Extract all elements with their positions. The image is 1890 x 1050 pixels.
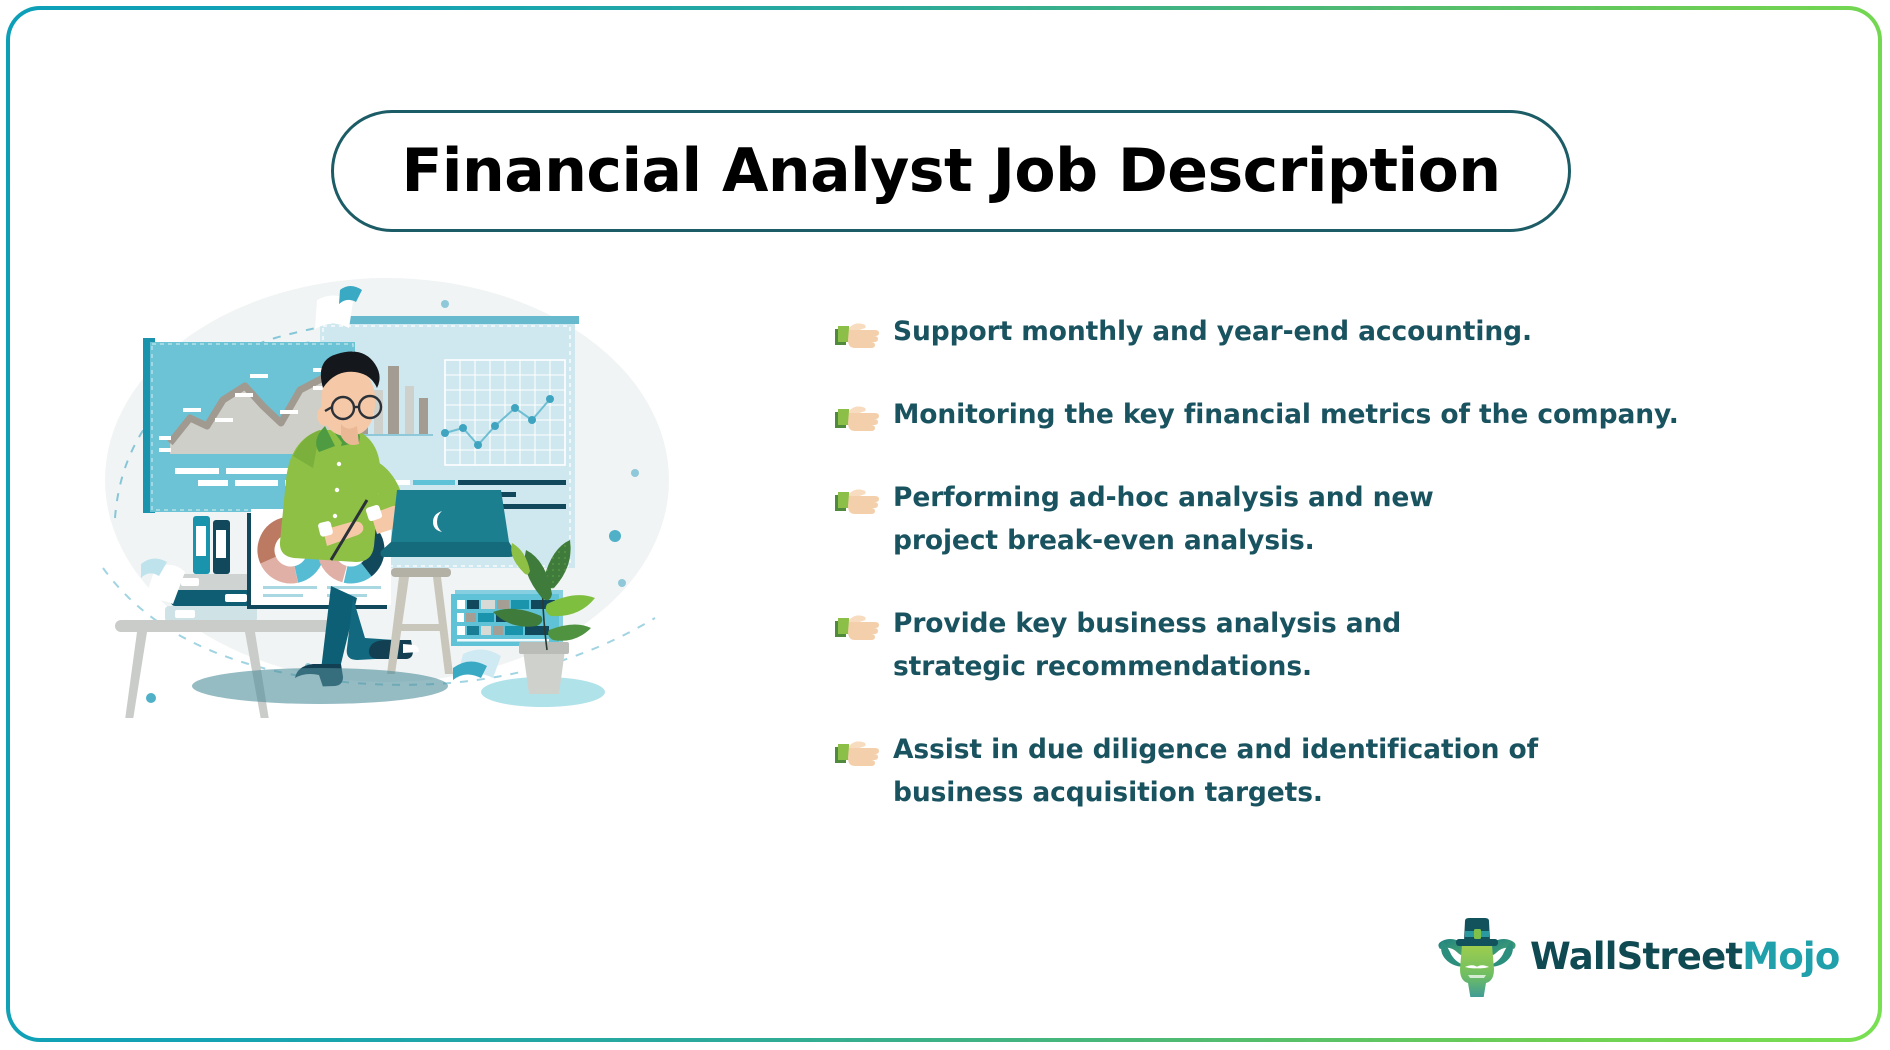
page-title: Financial Analyst Job Description	[401, 136, 1500, 206]
pointing-hand-icon	[835, 608, 879, 642]
laptop	[381, 490, 516, 557]
logo-word-accent: Mojo	[1742, 935, 1839, 978]
logo-word-primary: WallStreet	[1530, 935, 1742, 978]
pointing-hand-icon	[835, 316, 879, 350]
duties-list: Support monthly and year-end accounting.…	[835, 310, 1795, 814]
pointing-hand-icon	[835, 399, 879, 433]
pointing-hand-icon	[835, 482, 879, 516]
list-item: Provide key business analysis and strate…	[835, 602, 1795, 688]
wallstreetmojo-logo[interactable]: WallStreetMojo	[1438, 915, 1839, 997]
list-item: Monitoring the key financial metrics of …	[835, 393, 1795, 436]
title-pill: Financial Analyst Job Description	[331, 110, 1571, 232]
list-item: Support monthly and year-end accounting.	[835, 310, 1795, 353]
bull-with-top-hat-icon	[1438, 915, 1516, 997]
duty-text: Support monthly and year-end accounting.	[893, 310, 1532, 353]
duty-text: Monitoring the key financial metrics of …	[893, 393, 1679, 436]
infographic-canvas: Financial Analyst Job Description	[10, 10, 1878, 1038]
list-item: Performing ad-hoc analysis and new proje…	[835, 476, 1795, 562]
duty-text: Performing ad-hoc analysis and new proje…	[893, 476, 1533, 562]
duty-text: Provide key business analysis and strate…	[893, 602, 1518, 688]
list-item: Assist in due diligence and identificati…	[835, 728, 1795, 814]
pointing-hand-icon	[835, 734, 879, 768]
logo-wordmark: WallStreetMojo	[1530, 935, 1839, 978]
duty-text: Assist in due diligence and identificati…	[893, 728, 1613, 814]
financial-analyst-illustration	[95, 268, 695, 718]
infographic-frame: Financial Analyst Job Description	[6, 6, 1882, 1042]
